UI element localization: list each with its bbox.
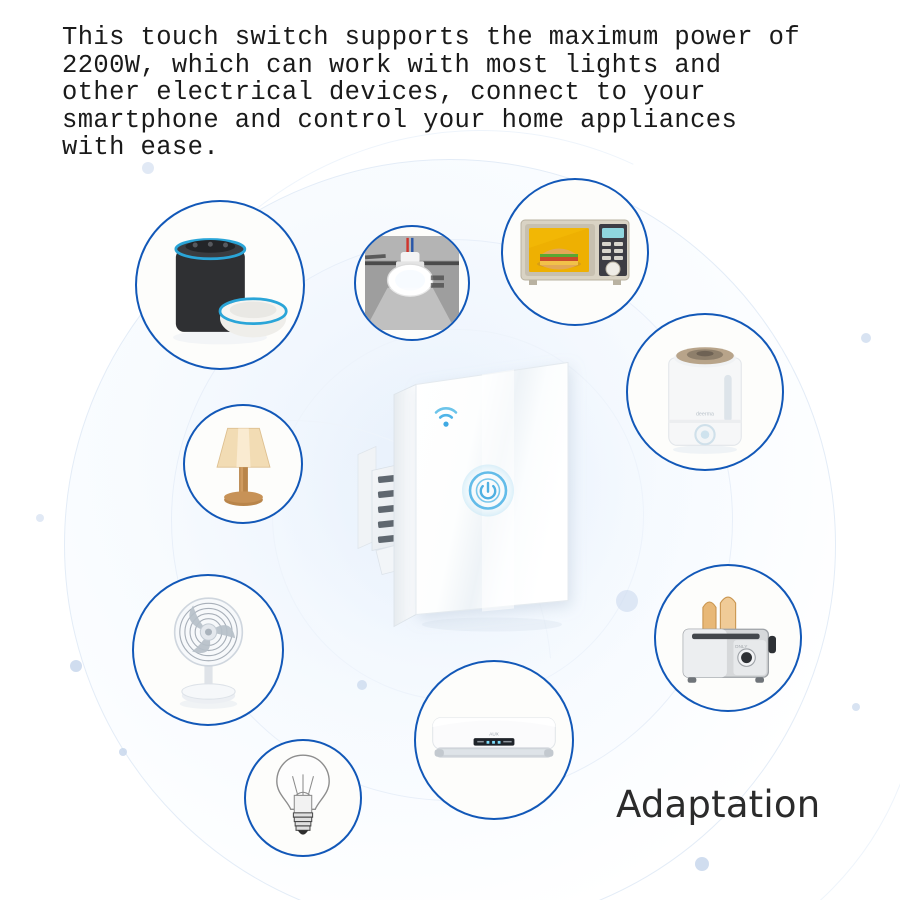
decor-dot [852, 703, 860, 711]
switch-ground-shadow [422, 618, 562, 632]
page-title: This touch switch supports the maximum p… [62, 24, 842, 162]
decor-dot [142, 162, 154, 174]
switch-plate-edge [394, 385, 416, 627]
device-bubble-humidifier[interactable]: deerma [626, 313, 784, 471]
device-bubble-air-conditioner[interactable]: AUX [414, 660, 574, 820]
decor-dot [616, 590, 638, 612]
decor-dot [70, 660, 82, 672]
decor-dot [119, 748, 127, 756]
svg-text:deerma: deerma [696, 411, 714, 417]
device-bubble-toaster[interactable]: ONLY [654, 564, 802, 712]
svg-text:ONLY: ONLY [735, 644, 749, 650]
split-air-conditioner-icon: AUX [429, 675, 559, 805]
svg-text:AUX: AUX [489, 731, 499, 736]
device-bubble-microwave-oven[interactable] [501, 178, 649, 326]
table-lamp-icon [195, 416, 292, 513]
decor-dot [357, 680, 367, 690]
product-poster: This touch switch supports the maximum p… [0, 0, 900, 900]
smart-switch-illustration [332, 343, 592, 643]
device-bubble-light-bulb[interactable] [244, 739, 362, 857]
adaptation-label: Adaptation [616, 783, 820, 826]
device-bubble-smart-speaker[interactable] [135, 200, 305, 370]
device-bubble-electric-fan[interactable] [132, 574, 284, 726]
recessed-ceiling-light-icon [365, 236, 459, 330]
microwave-icon [515, 192, 635, 312]
decor-dot [36, 514, 44, 522]
toaster-icon: ONLY [668, 578, 788, 698]
amazon-echo-icon [151, 216, 289, 354]
pedestal-fan-icon [147, 589, 270, 712]
smart-switch-device[interactable] [332, 343, 592, 648]
power-button[interactable] [462, 465, 514, 517]
decor-dot [861, 333, 871, 343]
incandescent-bulb-icon [255, 750, 351, 846]
decor-dot [695, 857, 709, 871]
device-bubble-table-lamp[interactable] [183, 404, 303, 524]
humidifier-icon: deerma [641, 328, 769, 456]
device-bubble-ceiling-downlight[interactable] [354, 225, 470, 341]
